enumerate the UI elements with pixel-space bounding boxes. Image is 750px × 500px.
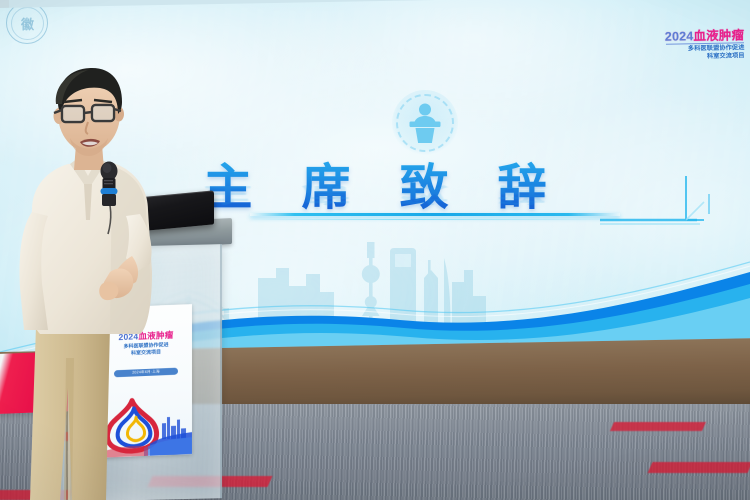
- emblem-watermark-icon: 徽: [6, 2, 48, 44]
- event-branding-top-right: 2024血液肿瘤 多科医联盟协作促进 科室交流项目: [664, 29, 744, 60]
- carpet-red-stripe: [610, 422, 706, 431]
- conference-photo-stage: 徽 2024血液肿瘤 多科医联盟协作促进 科室交流项目: [0, 0, 750, 500]
- carpet-red-stripe: [648, 462, 750, 473]
- podium-speaker-icon: [392, 90, 458, 156]
- presenter-at-podium: [14, 58, 204, 500]
- watermark-glyph: 徽: [21, 14, 33, 33]
- page-title: 主 席 致 辞: [187, 148, 562, 219]
- handheld-microphone: [96, 160, 122, 212]
- branding-year: 2024: [664, 29, 693, 44]
